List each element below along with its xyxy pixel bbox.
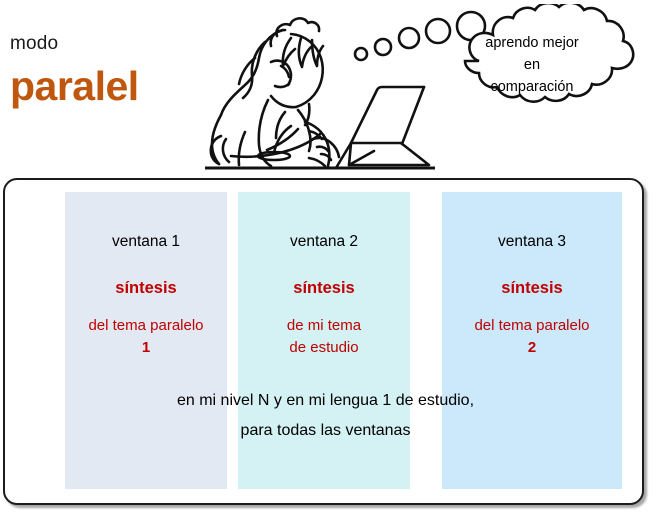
thought-bubble: aprendo mejor en comparación: [352, 4, 652, 144]
thought-dot-4: [426, 19, 450, 43]
thought-dot-1: [355, 48, 367, 60]
window-2-heading: síntesis: [238, 278, 410, 299]
window-3-sub-line-2: 2: [442, 337, 622, 359]
window-2-sub-line-1: de mi tema: [287, 317, 361, 334]
window-2-sub-line-2: de estudio: [238, 337, 410, 359]
window-3-sub-line-1: del tema paralelo: [474, 317, 589, 334]
window-1-subtitle: del tema paralelo 1: [65, 315, 227, 359]
mode-value: paralel: [10, 62, 225, 110]
title-block: modo paralel: [10, 32, 225, 110]
window-3-subtitle: del tema paralelo 2: [442, 315, 622, 359]
thought-dot-3: [399, 28, 419, 48]
header-area: modo paralel: [0, 0, 657, 178]
window-2-title: ventana 2: [238, 232, 410, 252]
window-3-title: ventana 3: [442, 232, 622, 252]
window-column-3[interactable]: ventana 3 síntesis del tema paralelo 2: [442, 192, 622, 489]
thought-bubble-line-1: aprendo mejor: [452, 32, 612, 54]
thought-bubble-line-3: comparación: [452, 76, 612, 98]
window-3-heading: síntesis: [442, 278, 622, 299]
window-2-subtitle: de mi tema de estudio: [238, 315, 410, 359]
thought-bubble-text: aprendo mejor en comparación: [452, 32, 612, 98]
thought-bubble-line-2: en: [452, 54, 612, 76]
window-1-title: ventana 1: [65, 232, 227, 252]
window-column-1[interactable]: ventana 1 síntesis del tema paralelo 1: [65, 192, 227, 489]
thought-dot-2: [375, 39, 391, 55]
window-1-heading: síntesis: [65, 278, 227, 299]
windows-panel: ventana 1 síntesis del tema paralelo 1 v…: [3, 178, 644, 505]
window-1-sub-line-2: 1: [65, 337, 227, 359]
mode-label: modo: [10, 32, 225, 56]
windows-columns-row: ventana 1 síntesis del tema paralelo 1 v…: [5, 180, 642, 503]
window-column-2[interactable]: ventana 2 síntesis de mi tema de estudio: [238, 192, 410, 489]
window-1-sub-line-1: del tema paralelo: [88, 317, 203, 334]
